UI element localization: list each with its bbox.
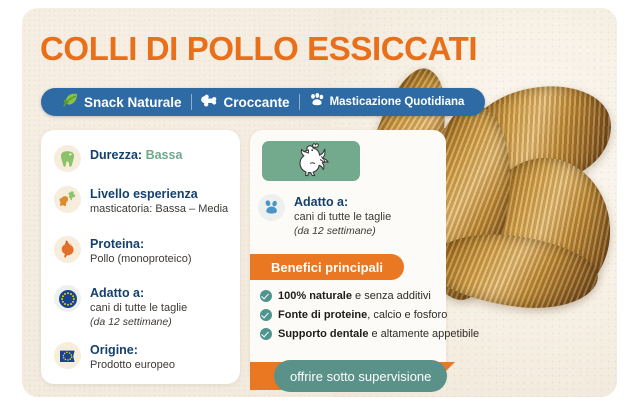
supervision-label: offrire sotto supervisione xyxy=(274,360,447,392)
list-item: Fonte di proteine, calcio e fosforo xyxy=(260,309,475,321)
dog-bone-icon xyxy=(54,186,81,213)
feature-badge-bar: Snack Naturale Croccante xyxy=(41,88,485,116)
badge-label: Snack Naturale xyxy=(84,95,182,110)
spec-heading: Adatto a: xyxy=(90,286,187,301)
spec-row-livello-esperienza: Livello esperienza masticatoria: Bassa –… xyxy=(54,186,228,217)
check-icon xyxy=(260,290,272,302)
spec-row-origine: Origine: Prodotto europeo xyxy=(54,342,175,373)
badge-masticazione-quotidiana: Masticazione Quotidiana xyxy=(300,93,474,112)
adatto-note: (da 12 settimane) xyxy=(294,225,391,239)
spec-row-proteina: Proteina: Pollo (monoproteico) xyxy=(54,236,192,267)
spec-note: (da 12 settimane) xyxy=(90,316,187,330)
bone-icon xyxy=(201,93,219,112)
tooth-icon xyxy=(54,145,81,172)
spec-row-adatto-a: Adatto a: cani di tutte le taglie (da 12… xyxy=(54,285,187,329)
benefit-rest: e altamente appetibile xyxy=(368,328,479,340)
spec-row-durezza: Durezza: Bassa xyxy=(54,145,182,172)
supervision-banner: offrire sotto supervisione xyxy=(250,360,485,394)
benefit-strong: Fonte di proteine xyxy=(278,309,367,321)
check-icon xyxy=(260,328,272,340)
spec-subtext: masticatoria: Bassa – Media xyxy=(90,202,228,216)
badge-label: Masticazione Quotidiana xyxy=(330,96,465,108)
spec-subtext: Prodotto europeo xyxy=(90,358,175,372)
badge-snack-naturale: Snack Naturale xyxy=(53,92,191,112)
spec-heading: Livello esperienza xyxy=(90,187,228,202)
paw-icon xyxy=(258,194,285,221)
product-card: COLLI DI POLLO ESSICCATI Snack Naturale xyxy=(22,8,617,397)
benefits-panel: Adatto a: cani di tutte le taglie (da 12… xyxy=(250,130,446,384)
spec-heading: Origine: xyxy=(90,343,175,358)
benefit-strong: Supporto dentale xyxy=(278,328,368,340)
specs-panel: Durezza: Bassa Livello esperienza mastic… xyxy=(41,130,240,384)
check-icon xyxy=(260,309,272,321)
badge-label: Croccante xyxy=(224,95,290,110)
benefit-rest: e senza additivi xyxy=(352,290,431,302)
benefits-list: 100% naturale e senza additivi Fonte di … xyxy=(260,290,475,347)
leaf-icon xyxy=(62,92,79,112)
spec-subtext: Pollo (monoproteico) xyxy=(90,252,192,266)
rooster-illustration-icon xyxy=(288,141,334,182)
eu-flag-icon xyxy=(54,285,81,312)
spec-heading: Durezza: Bassa xyxy=(90,148,182,162)
benefits-ribbon: Benefici principali xyxy=(250,254,404,280)
adatto-heading: Adatto a: xyxy=(294,195,391,210)
spec-subtext: cani di tutte le taglie xyxy=(90,301,187,315)
spec-heading: Proteina: xyxy=(90,237,192,252)
list-item: Supporto dentale e altamente appetibile xyxy=(260,328,475,340)
infographic-root: COLLI DI POLLO ESSICCATI Snack Naturale xyxy=(0,0,639,418)
list-item: 100% naturale e senza additivi xyxy=(260,290,475,302)
benefit-rest: , calcio e fosforo xyxy=(367,309,447,321)
chicken-icon xyxy=(54,236,81,263)
spec-value: Bassa xyxy=(146,148,183,162)
rooster-illustration-badge xyxy=(262,141,360,181)
paw-icon xyxy=(309,93,325,112)
adatto-a-block: Adatto a: cani di tutte le taglie (da 12… xyxy=(258,194,391,238)
page-title: COLLI DI POLLO ESSICCATI xyxy=(40,32,480,65)
badge-croccante: Croccante xyxy=(192,93,299,112)
adatto-subtext: cani di tutte le taglie xyxy=(294,210,391,224)
eu-origin-icon xyxy=(54,342,81,369)
benefit-strong: 100% naturale xyxy=(278,290,352,302)
